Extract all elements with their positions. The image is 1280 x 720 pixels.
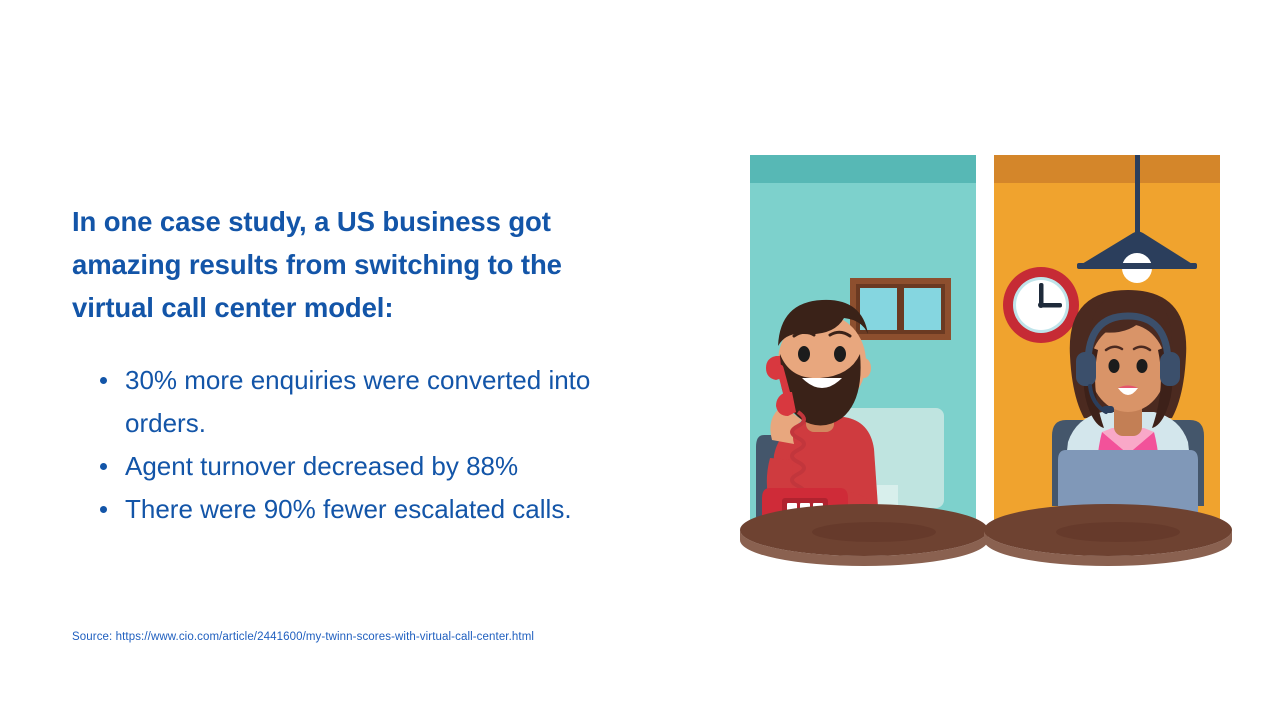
list-item: Agent turnover decreased by 88%	[72, 445, 632, 488]
list-item: There were 90% fewer escalated calls.	[72, 488, 632, 531]
source-citation[interactable]: Source: https://www.cio.com/article/2441…	[72, 629, 534, 645]
bullet-dot-icon	[100, 506, 107, 513]
left-desk	[740, 504, 988, 566]
bullet-dot-icon	[100, 377, 107, 384]
right-wall-top-strip	[994, 155, 1220, 183]
text-column: In one case study, a US business got ama…	[72, 200, 672, 531]
bullet-dot-icon	[100, 463, 107, 470]
wall-clock-icon	[1003, 267, 1079, 343]
left-wall-top-strip	[750, 155, 976, 183]
slide-canvas: In one case study, a US business got ama…	[0, 0, 1280, 720]
wall-window-icon	[850, 278, 951, 340]
left-panel-scene	[740, 155, 988, 566]
results-bullet-list: 30% more enquiries were converted into o…	[72, 359, 632, 531]
page-title: In one case study, a US business got ama…	[72, 200, 647, 329]
list-item-label: Agent turnover decreased by 88%	[125, 451, 518, 481]
right-panel-scene	[984, 155, 1232, 566]
call-center-illustration	[736, 140, 1236, 570]
list-item-label: There were 90% fewer escalated calls.	[125, 494, 572, 524]
list-item-label: 30% more enquiries were converted into o…	[125, 365, 590, 438]
list-item: 30% more enquiries were converted into o…	[72, 359, 632, 445]
right-desk	[984, 504, 1232, 566]
